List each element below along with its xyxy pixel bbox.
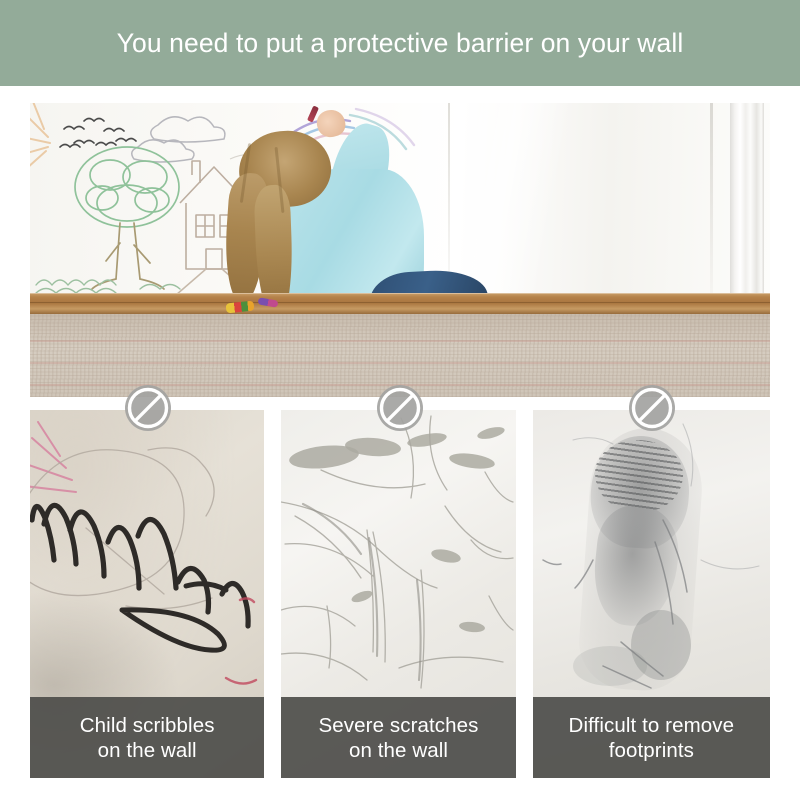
page-title: You need to put a protective barrier on … bbox=[117, 28, 684, 59]
no-entry-icon bbox=[628, 384, 676, 432]
hero-wall-column bbox=[730, 103, 764, 303]
panel-3-caption-line1: Difficult to remove bbox=[569, 713, 735, 738]
promo-page: You need to put a protective barrier on … bbox=[0, 0, 800, 800]
panel-2-caption-line1: Severe scratches bbox=[319, 713, 479, 738]
crayon-scribble-drawing bbox=[30, 410, 264, 700]
panel-difficult-footprints: Difficult to remove footprints bbox=[533, 410, 770, 778]
problem-panels: Child scribbles on the wall bbox=[30, 410, 770, 778]
panel-3-caption-line2: footprints bbox=[609, 738, 694, 763]
panel-2-caption-line2: on the wall bbox=[349, 738, 448, 763]
wall-scratches bbox=[281, 410, 515, 700]
panel-child-scribbles: Child scribbles on the wall bbox=[30, 410, 264, 778]
panel-severe-scratches: Severe scratches on the wall bbox=[281, 410, 515, 778]
hero-photo bbox=[30, 103, 770, 397]
header-banner: You need to put a protective barrier on … bbox=[0, 0, 800, 86]
panel-1-caption-line2: on the wall bbox=[98, 738, 197, 763]
hero-wall-seam-secondary bbox=[710, 103, 713, 299]
panel-1-caption-line1: Child scribbles bbox=[80, 713, 215, 738]
wood-baseboard bbox=[30, 293, 770, 315]
panel-3-caption: Difficult to remove footprints bbox=[533, 697, 770, 778]
footprint-streaks bbox=[533, 410, 770, 700]
no-entry-icon bbox=[124, 384, 172, 432]
hero-wall-seam bbox=[448, 103, 450, 299]
panel-1-caption: Child scribbles on the wall bbox=[30, 697, 264, 778]
panel-2-caption: Severe scratches on the wall bbox=[281, 697, 515, 778]
no-entry-icon bbox=[376, 384, 424, 432]
